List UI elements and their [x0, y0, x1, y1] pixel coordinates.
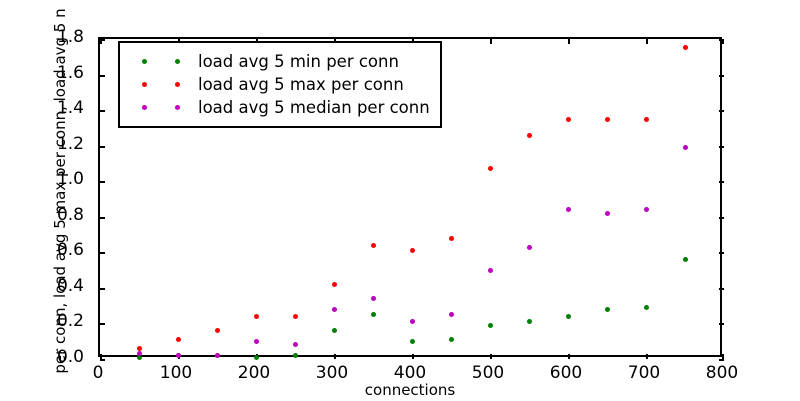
legend-marker-dot-icon [175, 105, 180, 110]
data-point [176, 337, 181, 342]
data-point [293, 342, 298, 347]
x-axis-tick-label: 700 [609, 365, 679, 382]
x-axis-tick-label: 500 [453, 365, 523, 382]
data-point [371, 312, 376, 317]
data-point [683, 257, 688, 262]
legend-marker-dot-icon [175, 59, 180, 64]
y-axis-tick-label: 1.2 [0, 136, 84, 153]
legend-handle-median [128, 105, 194, 110]
y-axis-tick-labels: 0.00.20.40.60.81.01.21.41.61.8 [0, 37, 92, 357]
data-point [176, 353, 181, 358]
data-point [683, 45, 688, 50]
legend-item-max[interactable]: load avg 5 max per conn [128, 73, 430, 96]
data-point [488, 166, 493, 171]
data-point [371, 243, 376, 248]
data-point [332, 328, 337, 333]
data-point [215, 328, 220, 333]
legend-label-median: load avg 5 median per conn [194, 98, 430, 117]
y-axis-tick-label: 0.6 [0, 242, 84, 259]
data-point [137, 351, 142, 356]
x-axis-title: connections [98, 381, 722, 399]
data-point [254, 314, 259, 319]
scatter-chart-figure: 0.00.20.40.60.81.01.21.41.61.8 per conn,… [0, 0, 800, 400]
x-axis-tick-label: 100 [141, 365, 211, 382]
y-axis-tick-label: 0.4 [0, 278, 84, 295]
x-axis-tick [722, 354, 724, 359]
data-point [410, 248, 415, 253]
legend-label-min: load avg 5 min per conn [194, 52, 399, 71]
data-point [137, 346, 142, 351]
y-axis-title: per conn, load avg 5 max per conn, load … [51, 0, 69, 401]
data-point [293, 314, 298, 319]
y-axis-tick-label: 1.6 [0, 65, 84, 82]
data-point [527, 319, 532, 324]
x-axis-tick [722, 39, 724, 44]
data-point [371, 296, 376, 301]
data-point [449, 236, 454, 241]
y-axis-tick-label: 1.8 [0, 29, 84, 46]
x-axis-tick-label: 800 [687, 365, 757, 382]
legend-item-median[interactable]: load avg 5 median per conn [128, 96, 430, 119]
chart-legend: load avg 5 min per conn load avg 5 max p… [118, 41, 442, 128]
data-point [644, 117, 649, 122]
data-point [605, 211, 610, 216]
data-point [410, 319, 415, 324]
data-point [683, 145, 688, 150]
data-point [449, 312, 454, 317]
legend-marker-dot-icon [142, 82, 147, 87]
data-point [410, 339, 415, 344]
x-axis-tick-label: 200 [219, 365, 289, 382]
x-axis-tick-label: 600 [531, 365, 601, 382]
legend-marker-dot-icon [142, 105, 147, 110]
legend-label-max: load avg 5 max per conn [194, 75, 404, 94]
y-axis-tick-label: 0.0 [0, 349, 84, 366]
data-point [566, 314, 571, 319]
data-point [527, 133, 532, 138]
legend-marker-dot-icon [175, 82, 180, 87]
legend-marker-dot-icon [142, 59, 147, 64]
data-point [527, 245, 532, 250]
data-point [605, 117, 610, 122]
y-axis-tick-label: 1.0 [0, 171, 84, 188]
data-point [293, 353, 298, 358]
data-point [605, 307, 610, 312]
data-point [644, 207, 649, 212]
data-point [566, 117, 571, 122]
data-point [449, 337, 454, 342]
data-point [254, 339, 259, 344]
legend-handle-min [128, 59, 194, 64]
data-point [332, 282, 337, 287]
y-axis-tick-label: 1.4 [0, 100, 84, 117]
data-point [644, 305, 649, 310]
y-axis-tick-label: 0.8 [0, 207, 84, 224]
legend-handle-max [128, 82, 194, 87]
x-axis-tick-labels: 0100200300400500600700800 [98, 359, 722, 383]
data-point [332, 307, 337, 312]
data-point [566, 207, 571, 212]
x-axis-tick-label: 300 [297, 365, 367, 382]
legend-item-min[interactable]: load avg 5 min per conn [128, 50, 430, 73]
data-point [488, 323, 493, 328]
x-axis-tick-label: 0 [63, 365, 133, 382]
data-point [488, 268, 493, 273]
y-axis-tick-label: 0.2 [0, 313, 84, 330]
data-point [215, 353, 220, 358]
x-axis-tick-label: 400 [375, 365, 445, 382]
